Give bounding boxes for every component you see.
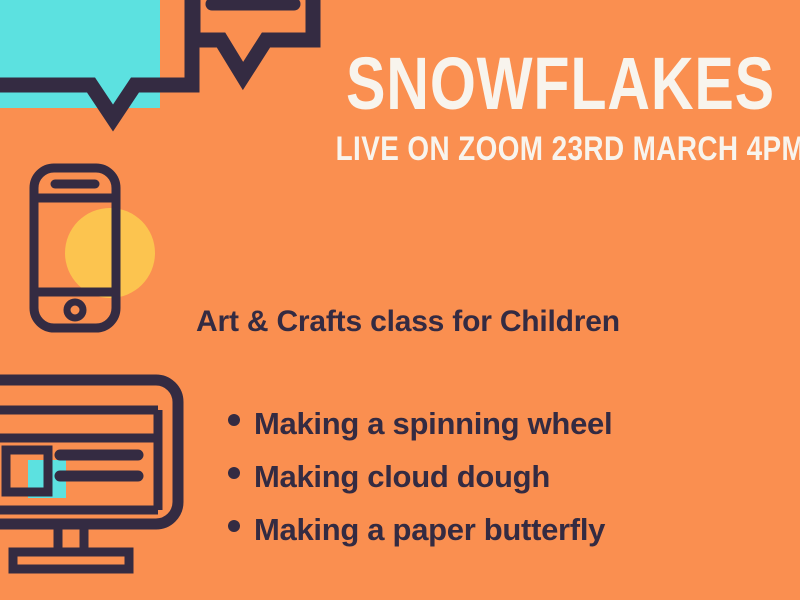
list-item-label: Making cloud dough — [254, 461, 550, 492]
desktop-monitor-icon — [0, 372, 201, 577]
mobile-phone-icon — [22, 160, 172, 340]
poster-subtitle: LIVE ON ZOOM 23RD MARCH 4PM - 5PM — [336, 132, 762, 166]
list-item: Making a spinning wheel — [228, 408, 612, 439]
poster-title: SNOWFLAKES — [346, 52, 762, 116]
poster-canvas: SNOWFLAKES LIVE ON ZOOM 23RD MARCH 4PM -… — [0, 0, 800, 600]
activity-list: Making a spinning wheel Making cloud dou… — [228, 408, 612, 567]
list-item-label: Making a spinning wheel — [254, 408, 612, 439]
bullet-dot-icon — [228, 414, 240, 426]
headline-group: SNOWFLAKES LIVE ON ZOOM 23RD MARCH 4PM -… — [242, 52, 762, 166]
list-item-label: Making a paper butterfly — [254, 514, 605, 545]
list-item: Making cloud dough — [228, 461, 612, 492]
bullet-dot-icon — [228, 520, 240, 532]
yellow-circle-accent — [65, 208, 155, 298]
bullet-dot-icon — [228, 467, 240, 479]
poster-tagline: Art & Crafts class for Children — [196, 305, 620, 339]
list-item: Making a paper butterfly — [228, 514, 612, 545]
speech-bubble-left-icon — [0, 0, 192, 118]
